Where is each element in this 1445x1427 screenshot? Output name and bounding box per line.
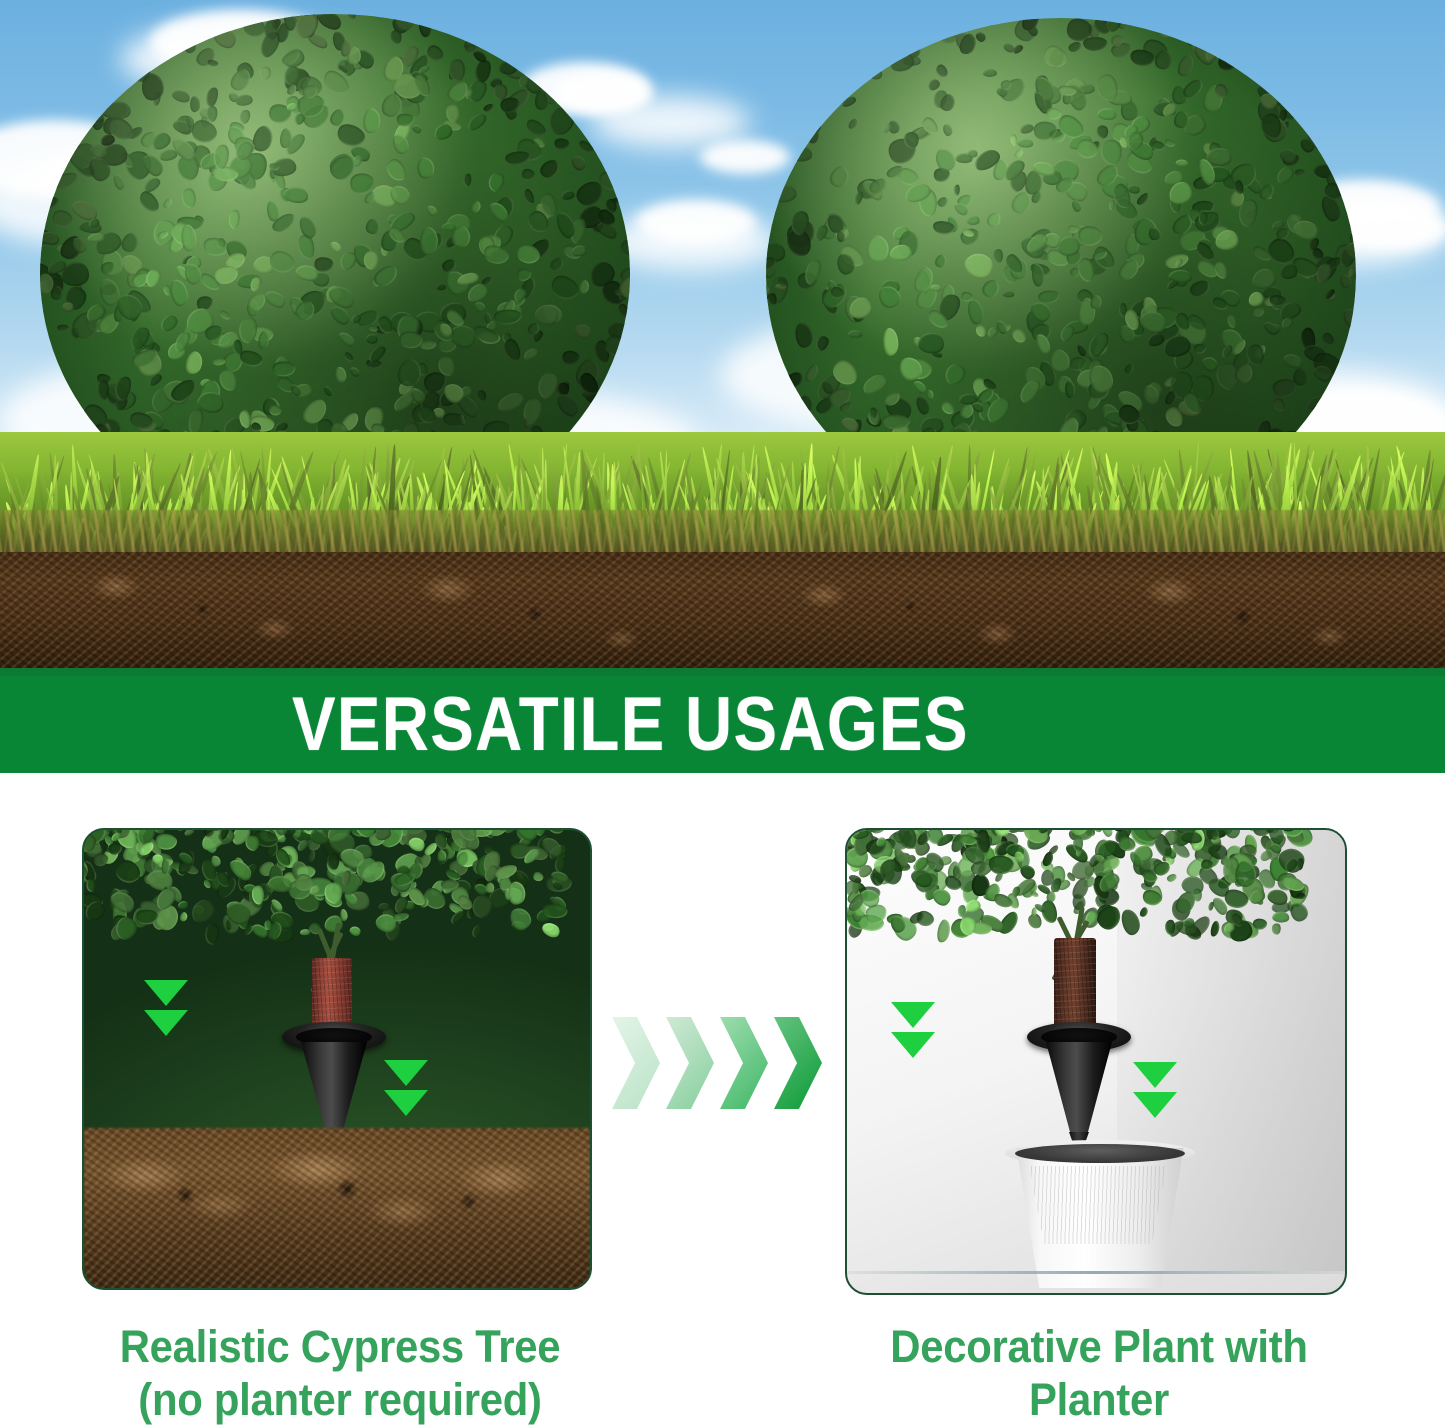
leaf-icon: [890, 245, 912, 261]
leaf-icon: [418, 226, 440, 256]
leaf-icon: [985, 18, 998, 27]
leaf-icon: [1166, 873, 1177, 883]
chevron-down-icon: [1133, 1062, 1177, 1088]
leaf-icon: [141, 72, 166, 102]
leaf-icon: [943, 123, 953, 136]
leaf-icon: [157, 312, 180, 334]
leaf-icon: [766, 185, 775, 216]
comparison-section: Realistic Cypress Tree (no planter requi…: [0, 773, 1445, 1427]
leaf-icon: [1108, 199, 1116, 211]
leaf-icon: [115, 55, 133, 79]
leaf-icon: [425, 204, 438, 218]
stake-cone: [301, 1042, 367, 1134]
leaf-icon: [1262, 319, 1280, 337]
caption-left-line1: Realistic Cypress Tree: [61, 1320, 619, 1373]
hero-product-photo: [0, 0, 1445, 676]
leaf-icon: [348, 365, 362, 379]
leaf-icon: [983, 69, 998, 78]
leaf-icon: [826, 163, 853, 190]
leaf-icon: [1155, 828, 1172, 829]
leaf-icon: [469, 200, 483, 215]
leaf-icon: [975, 325, 986, 337]
leaf-icon: [869, 407, 878, 418]
leaf-icon: [1348, 190, 1356, 208]
leaf-icon: [214, 266, 238, 284]
leaf-icon: [1002, 290, 1014, 298]
soil-cross-section: [0, 552, 1445, 676]
leaf-icon: [618, 237, 630, 261]
leaf-icon: [218, 308, 232, 322]
leaf-icon: [1215, 230, 1238, 250]
leaf-icon: [993, 248, 1004, 263]
leaf-icon: [502, 337, 522, 363]
leaf-icon: [384, 156, 409, 184]
leaf-icon: [794, 322, 813, 348]
leaf-icon: [1065, 380, 1076, 397]
leaf-icon: [168, 278, 190, 308]
banner-title: VERSATILE USAGES: [292, 687, 969, 763]
leaf-icon: [860, 371, 890, 396]
leaf-icon: [1174, 52, 1197, 78]
leaf-icon: [1274, 164, 1297, 186]
leaf-icon: [837, 230, 845, 242]
leaf-icon: [1019, 123, 1035, 135]
leaf-icon: [485, 170, 507, 194]
leaf-icon: [50, 170, 80, 191]
chevron-down-icon: [891, 1002, 935, 1028]
leaf-icon: [1139, 906, 1150, 918]
leaf-icon: [932, 252, 949, 269]
leaf-icon: [1273, 379, 1297, 397]
leaf-icon: [935, 63, 950, 79]
leaf-icon: [1176, 158, 1190, 167]
leaf-icon: [532, 870, 545, 883]
leaf-icon: [158, 148, 177, 161]
chevron-down-icon: [384, 1060, 428, 1086]
leaf-icon: [459, 828, 476, 829]
leaf-icon: [1097, 106, 1118, 121]
planter-ridge-texture: [1023, 1166, 1173, 1244]
chevron-right-icon: [720, 1017, 768, 1109]
leaf-icon: [766, 205, 777, 238]
leaf-icon: [1011, 327, 1028, 345]
leaf-icon: [966, 828, 994, 829]
leaf-icon: [788, 146, 813, 163]
foliage-canopy: [845, 828, 1301, 932]
leaf-icon: [1272, 910, 1291, 923]
leaf-icon: [207, 59, 219, 68]
leaf-icon: [410, 122, 423, 135]
leaf-icon: [508, 905, 533, 932]
leaf-icon: [182, 350, 206, 377]
chevron-right-icon: [666, 1017, 714, 1109]
leaf-icon: [181, 225, 196, 252]
versatile-usages-banner: VERSATILE USAGES: [0, 676, 1445, 773]
leaf-icon: [348, 924, 362, 937]
leaf-icon: [418, 15, 432, 38]
leaf-icon: [1227, 314, 1236, 328]
transition-arrow: [612, 1017, 834, 1109]
leaf-icon: [465, 111, 489, 133]
leaf-icon: [1251, 306, 1264, 317]
leaf-icon: [49, 396, 63, 410]
leaf-icon: [88, 233, 105, 242]
leaf-icon: [475, 390, 486, 402]
leaf-icon: [984, 210, 1004, 230]
leaf-icon: [322, 384, 334, 397]
leaf-icon: [363, 217, 383, 237]
leaf-icon: [1069, 266, 1081, 278]
leaf-icon: [238, 348, 265, 370]
chevron-down-icon: [1133, 1092, 1177, 1118]
foliage-canopy: [82, 828, 564, 934]
leaf-icon: [1252, 917, 1268, 931]
leaf-icon: [1320, 330, 1335, 346]
planter-soil: [1015, 1144, 1185, 1163]
leaf-icon: [111, 173, 125, 191]
leaf-icon: [211, 855, 221, 867]
leaf-icon: [926, 389, 934, 400]
leaf-icon: [217, 238, 226, 248]
leaf-icon: [470, 923, 485, 938]
leaf-icon: [1149, 227, 1161, 241]
leaf-icon: [766, 356, 771, 374]
leaf-icon: [953, 184, 961, 196]
leaf-icon: [300, 929, 310, 935]
leaf-icon: [966, 149, 977, 158]
leaf-icon: [519, 166, 536, 183]
leaf-icon: [1100, 828, 1114, 838]
leaf-icon: [553, 137, 570, 151]
leaf-icon: [1280, 263, 1298, 280]
leaf-icon: [773, 185, 797, 204]
leaf-icon: [1295, 169, 1306, 177]
leaf-icon: [462, 173, 472, 187]
leaf-icon: [766, 389, 793, 412]
leaf-icon: [610, 353, 630, 380]
leaf-icon: [316, 14, 344, 33]
leaf-icon: [136, 189, 161, 216]
chevron-right-icon: [612, 1017, 660, 1109]
leaf-icon: [1350, 317, 1356, 336]
leaf-icon: [329, 239, 343, 254]
leaf-icon: [884, 328, 899, 356]
leaf-icon: [570, 153, 588, 172]
leaf-icon: [162, 196, 174, 208]
leaf-icon: [523, 418, 530, 429]
leaf-icon: [343, 350, 355, 364]
garden-soil-texture: [84, 1128, 590, 1288]
leaf-icon: [937, 196, 951, 209]
chevron-down-icon: [144, 1010, 188, 1036]
leaf-icon: [93, 853, 109, 868]
leaf-icon: [840, 95, 857, 109]
leaf-icon: [978, 277, 1002, 301]
leaf-icon: [1048, 845, 1060, 856]
leaf-icon: [178, 900, 188, 909]
leaf-icon: [1039, 290, 1060, 303]
leaf-icon: [266, 246, 299, 278]
leaf-icon: [941, 361, 969, 389]
leaf-icon: [308, 850, 317, 863]
leaf-icon: [103, 100, 131, 120]
leaf-icon: [1188, 279, 1212, 299]
leaf-icon: [203, 922, 221, 946]
leaf-icon: [766, 328, 770, 349]
leaf-icon: [1163, 137, 1176, 149]
leaf-icon: [623, 175, 630, 193]
leaf-icon: [435, 283, 445, 291]
leaf-icon: [1095, 124, 1110, 139]
lawn-grass-layer: [0, 432, 1445, 562]
leaf-icon: [459, 414, 465, 425]
leaf-icon: [40, 166, 53, 181]
leaf-icon: [1013, 148, 1025, 160]
leaf-icon: [364, 332, 379, 346]
leaf-icon: [573, 321, 594, 342]
hero-bottom-divider: [0, 668, 1445, 676]
leaf-icon: [537, 157, 562, 181]
leaf-icon: [864, 233, 894, 265]
chevron-down-icon: [891, 1032, 935, 1058]
chevron-right-icon: [774, 1017, 822, 1109]
leaf-icon: [553, 390, 581, 421]
leaf-icon: [561, 190, 575, 200]
chevron-down-icon: [384, 1090, 428, 1116]
leaf-icon: [480, 275, 493, 286]
leaf-icon: [432, 123, 453, 142]
leaf-icon: [188, 897, 218, 926]
leaf-icon: [827, 213, 844, 233]
leaf-icon: [813, 333, 831, 352]
leaf-icon: [183, 39, 196, 54]
leaf-icon: [1017, 137, 1034, 148]
leaf-icon: [417, 157, 436, 179]
leaf-icon: [1068, 40, 1083, 53]
leaf-icon: [561, 349, 581, 367]
leaf-icon: [625, 208, 630, 231]
decorative-plant-with-planter-panel[interactable]: [845, 828, 1347, 1295]
leaf-icon: [523, 188, 536, 206]
leaf-icon: [204, 85, 220, 107]
leaf-icon: [847, 117, 859, 130]
leaf-icon: [522, 347, 540, 362]
leaf-icon: [577, 139, 595, 156]
leaf-icon: [56, 324, 69, 332]
leaf-icon: [392, 912, 409, 922]
leaf-icon: [390, 30, 401, 44]
leaf-icon: [916, 329, 946, 355]
leaf-icon: [1247, 291, 1264, 307]
leaf-icon: [548, 256, 566, 273]
leaf-icon: [348, 14, 357, 19]
chevron-down-icon: [144, 980, 188, 1006]
stake-cone: [1046, 1042, 1112, 1136]
leaf-icon: [952, 865, 960, 880]
leaf-icon: [868, 67, 884, 81]
leaf-icon: [272, 360, 296, 378]
leaf-icon: [1084, 329, 1113, 360]
leaf-icon: [220, 369, 238, 392]
caption-left: Realistic Cypress Tree (no planter requi…: [61, 1320, 619, 1426]
leaf-icon: [484, 312, 492, 324]
caption-right: Decorative Plant with Planter: [830, 1320, 1368, 1426]
leaf-icon: [189, 95, 200, 111]
grass-thatch: [0, 510, 1445, 558]
leaf-icon: [1271, 397, 1287, 414]
leaf-icon: [542, 103, 579, 140]
leaf-icon: [837, 75, 854, 91]
leaf-icon: [1012, 43, 1025, 55]
leaf-icon: [259, 14, 269, 18]
leaf-icon: [848, 329, 863, 339]
leaf-icon: [210, 24, 239, 53]
leaf-icon: [594, 405, 608, 420]
floor-line: [847, 1271, 1345, 1274]
realistic-cypress-tree-panel[interactable]: [82, 828, 592, 1290]
leaf-icon: [171, 88, 191, 104]
caption-right-line1: Decorative Plant with: [830, 1320, 1368, 1373]
leaf-icon: [179, 912, 189, 923]
leaf-icon: [361, 107, 382, 135]
leaf-icon: [483, 102, 496, 112]
leaf-icon: [547, 271, 582, 305]
leaf-icon: [975, 31, 988, 44]
leaf-icon: [335, 366, 346, 383]
leaf-icon: [337, 329, 357, 348]
leaf-icon: [1123, 363, 1136, 376]
leaf-icon: [49, 207, 75, 232]
leaf-icon: [803, 362, 822, 383]
leaf-icon: [1247, 345, 1264, 366]
caption-right-line2: Planter: [830, 1373, 1368, 1426]
leaf-icon: [572, 246, 587, 257]
leaf-icon: [967, 299, 985, 326]
leaf-icon: [1194, 343, 1208, 355]
leaf-icon: [1052, 881, 1060, 892]
leaf-icon: [1215, 52, 1238, 74]
leaf-icon: [505, 151, 530, 166]
leaf-icon: [928, 828, 959, 829]
leaf-icon: [228, 208, 242, 229]
leaf-icon: [40, 196, 59, 210]
leaf-icon: [118, 230, 142, 255]
soil-texture: [0, 552, 1445, 676]
leaf-icon: [182, 188, 197, 209]
leaf-icon: [494, 309, 522, 325]
caption-left-line2: (no planter required): [61, 1373, 619, 1426]
leaf-icon: [340, 908, 348, 921]
leaf-icon: [966, 215, 979, 226]
leaf-icon: [766, 318, 769, 348]
leaf-icon: [257, 65, 273, 82]
leaf-icon: [1096, 74, 1119, 102]
leaf-icon: [1114, 828, 1135, 829]
leaf-icon: [1039, 41, 1071, 73]
leaf-icon: [108, 842, 123, 856]
